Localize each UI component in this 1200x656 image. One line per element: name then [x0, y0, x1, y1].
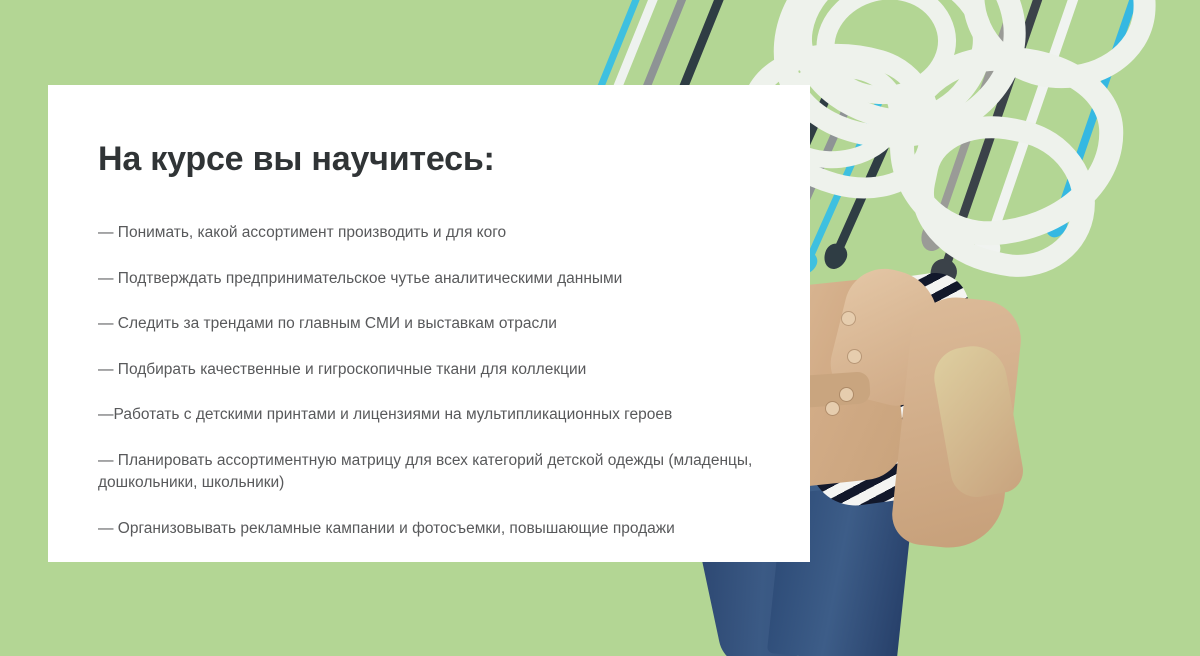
blob-ring-mid-icon	[779, 0, 1006, 144]
coat-button-4	[826, 402, 839, 415]
list-item: — Следить за трендами по главным СМИ и в…	[98, 313, 758, 335]
list-item: — Подбирать качественные и гигроскопичны…	[98, 359, 758, 381]
slide-root: На курсе вы научитесь: — Понимать, какой…	[0, 0, 1200, 656]
white-stroke-right-icon	[980, 0, 1102, 258]
blob-ring-bottom-icon	[883, 38, 1130, 252]
list-item: — Организовывать рекламные кампании и фо…	[98, 518, 758, 540]
list-item: — Подтверждать предпринимательское чутье…	[98, 268, 758, 290]
coat-button-3	[840, 388, 853, 401]
navy-stroke-right-icon	[937, 0, 1069, 281]
cyan-stroke-lower-icon	[803, 99, 883, 266]
gray-stroke-right-icon	[928, 0, 1043, 243]
coat-button-1	[842, 312, 855, 325]
list-item: —Работать с детскими принтами и лицензия…	[98, 404, 758, 426]
list-item: — Понимать, какой ассортимент производит…	[98, 222, 758, 244]
coat-button-2	[848, 350, 861, 363]
content-card: На курсе вы научитесь: — Понимать, какой…	[48, 85, 810, 562]
navy-stroke-lower2-icon	[829, 98, 908, 262]
benefits-list: — Понимать, какой ассортимент производит…	[98, 222, 760, 540]
blob-ring-inner-icon	[803, 0, 968, 119]
blob-ring-far-right-icon	[953, 0, 1164, 98]
page-title: На курсе вы научитесь:	[98, 141, 760, 178]
list-item: — Планировать ассортиментную матрицу для…	[98, 450, 758, 495]
cyan-stroke-right-icon	[1051, 0, 1158, 230]
